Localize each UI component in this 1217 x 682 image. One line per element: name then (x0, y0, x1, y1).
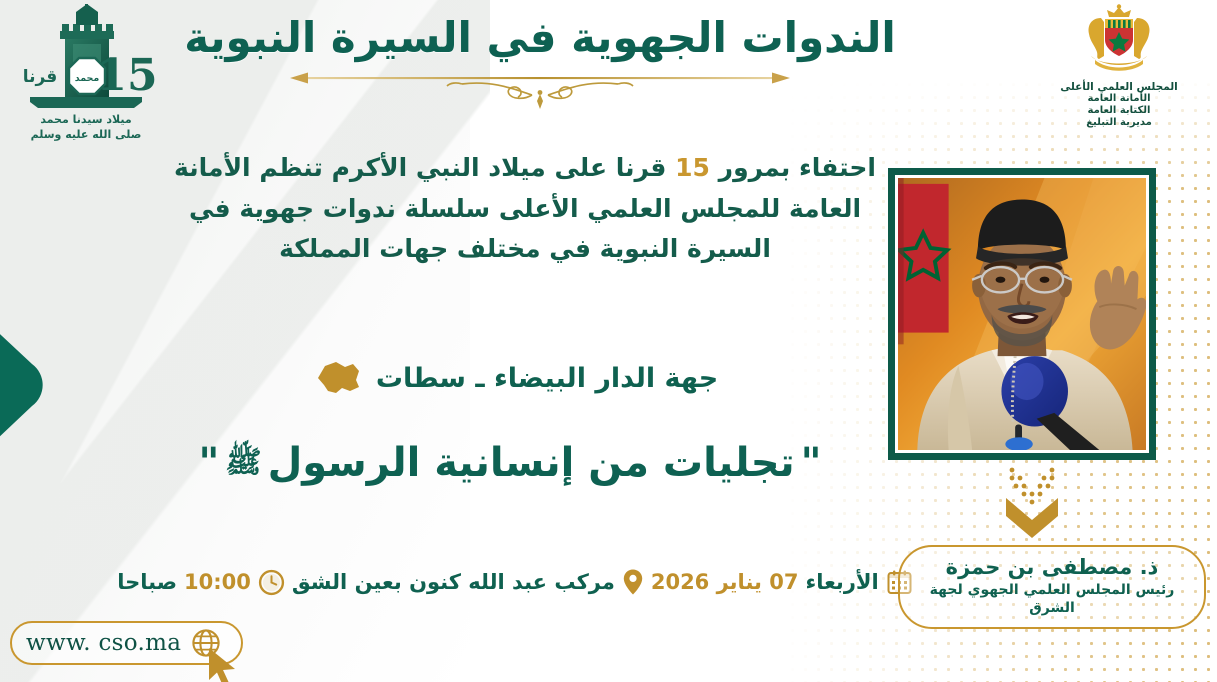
event-date: 07 يناير 2026 (651, 570, 799, 594)
theme-quote-close: " (199, 440, 220, 486)
event-info-row: الأربعاء 07 يناير 2026 مركب عبد الله كنو… (160, 568, 870, 596)
svg-text:محمد: محمد (75, 73, 100, 84)
coat-of-arms-icon (1075, 4, 1163, 80)
left-chevron-decoration (0, 218, 202, 562)
page-title: الندوات الجهوية في السيرة النبوية (175, 12, 905, 64)
emblem-caption: المجلس العلمي الأعلى الأمانة العامة الكت… (1029, 81, 1209, 129)
region-label: جهة الدار البيضاء ـ سطات (376, 363, 718, 394)
event-weekday: الأربعاء (805, 570, 878, 594)
event-time: 10:00 (184, 570, 251, 594)
honorific-sallallahu-icon: ﷺ (225, 448, 261, 478)
intro-number: 15 (675, 153, 710, 182)
speaker-name: ذ. مصطفى بن حمزة (916, 555, 1188, 580)
event-venue: مركب عبد الله كنون بعين الشق (292, 570, 615, 594)
gold-down-arrow-decoration (1000, 466, 1064, 542)
ornamental-divider (280, 68, 800, 112)
conference-theme: " تجليات من إنسانية الرسول ﷺ " (160, 440, 860, 486)
speaker-info-box: ذ. مصطفى بن حمزة رئيس المجلس العلمي الجه… (898, 545, 1206, 629)
morocco-region-map-icon (312, 358, 364, 398)
speaker-role: رئيس المجلس العلمي الجهوي لجهة الشرق (916, 582, 1188, 617)
title-block: الندوات الجهوية في السيرة النبوية (175, 12, 905, 112)
emblem-line-1: المجلس العلمي الأعلى (1029, 81, 1209, 93)
intro-text-before: احتفاء بمرور (719, 153, 876, 182)
morocco-coat-of-arms-block: المجلس العلمي الأعلى الأمانة العامة الكت… (1029, 4, 1209, 129)
theme-quote-open: " (801, 440, 822, 486)
svg-text:قرنا: قرنا (23, 67, 57, 87)
location-pin-icon (622, 568, 644, 596)
svg-text:ميلاد سيدنا محمد: ميلاد سيدنا محمد (40, 113, 131, 126)
theme-text: تجليات من إنسانية الرسول (268, 440, 795, 486)
speaker-photo-frame (888, 168, 1156, 460)
cursor-arrow-icon (205, 646, 245, 682)
svg-text:صلى الله عليه وسلم: صلى الله عليه وسلم (31, 128, 142, 141)
emblem-line-3: الكتابة العامة (1029, 105, 1209, 117)
speaker-photo (898, 178, 1146, 450)
logo-15-qarnan: 15 قرنا محمد ميلاد سيدنا محمد صلى الله ع… (10, 4, 160, 154)
emblem-line-4: مديرية التبليغ (1029, 117, 1209, 129)
emblem-line-2: الأمانة العامة (1029, 93, 1209, 105)
clock-icon (258, 569, 285, 596)
website-url: www. cso.ma (26, 630, 181, 656)
event-time-period: صباحا (117, 570, 177, 594)
poster-canvas: 15 قرنا محمد ميلاد سيدنا محمد صلى الله ع… (0, 0, 1217, 682)
intro-paragraph: احتفاء بمرور 15 قرنا على ميلاد النبي الأ… (170, 148, 880, 270)
region-line: جهة الدار البيضاء ـ سطات (280, 358, 750, 398)
